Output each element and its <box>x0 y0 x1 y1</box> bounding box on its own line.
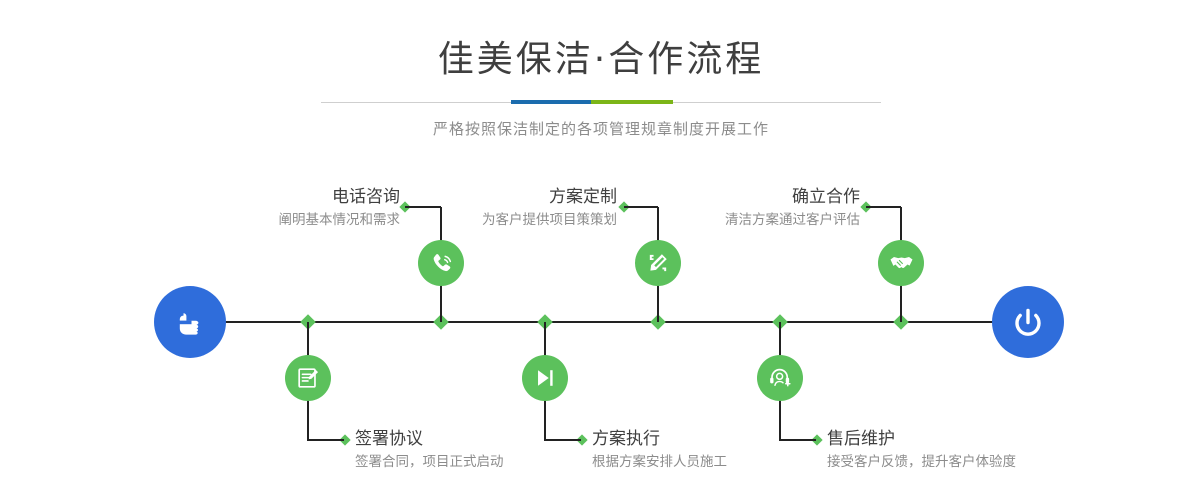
connector-h-step-6 <box>779 439 816 441</box>
step-title-6: 售后维护 <box>827 428 1197 450</box>
pencil-ruler-icon <box>645 250 671 276</box>
step-icon-phone-call[interactable] <box>418 240 464 286</box>
divider-blue-segment <box>511 100 591 104</box>
pointing-hand-icon <box>170 302 210 342</box>
step-label-5: 确立合作 清洁方案通过客户评估 <box>450 186 860 231</box>
header: 佳美保洁·合作流程 严格按照保洁制定的各项管理规章制度开展工作 <box>0 0 1202 139</box>
divider-green-segment <box>591 100 673 104</box>
flowchart-canvas: 佳美保洁·合作流程 严格按照保洁制定的各项管理规章制度开展工作 <box>0 0 1202 502</box>
step-icon-document-pen[interactable] <box>285 355 331 401</box>
timeline-axis <box>160 321 1042 323</box>
connector-h-step-4 <box>544 439 581 441</box>
step-icon-pencil-ruler[interactable] <box>635 240 681 286</box>
end-node[interactable] <box>992 286 1064 358</box>
step-desc-6: 接受客户反馈，提升客户体验度 <box>827 451 1197 473</box>
handshake-icon <box>888 250 915 277</box>
document-pen-icon <box>295 365 321 391</box>
headset-support-icon <box>767 365 793 391</box>
page-title: 佳美保洁·合作流程 <box>0 42 1202 78</box>
step-icon-headset-support[interactable] <box>757 355 803 401</box>
phone-call-icon <box>428 250 455 277</box>
connector-h-step-2 <box>307 439 344 441</box>
step-desc-5: 清洁方案通过客户评估 <box>450 209 860 231</box>
connector-h-step-3 <box>624 206 658 208</box>
step-label-6: 售后维护 接受客户反馈，提升客户体验度 <box>827 428 1197 473</box>
step-icon-handshake[interactable] <box>878 240 924 286</box>
title-divider <box>321 100 881 104</box>
step-icon-play-execute[interactable] <box>522 355 568 401</box>
start-node[interactable] <box>154 286 226 358</box>
connector-h-step-1 <box>405 206 441 208</box>
page-subtitle: 严格按照保洁制定的各项管理规章制度开展工作 <box>0 118 1202 139</box>
play-execute-icon <box>532 365 558 391</box>
step-title-5: 确立合作 <box>450 186 860 208</box>
power-icon <box>1008 302 1048 342</box>
connector-h-step-5 <box>866 206 901 208</box>
